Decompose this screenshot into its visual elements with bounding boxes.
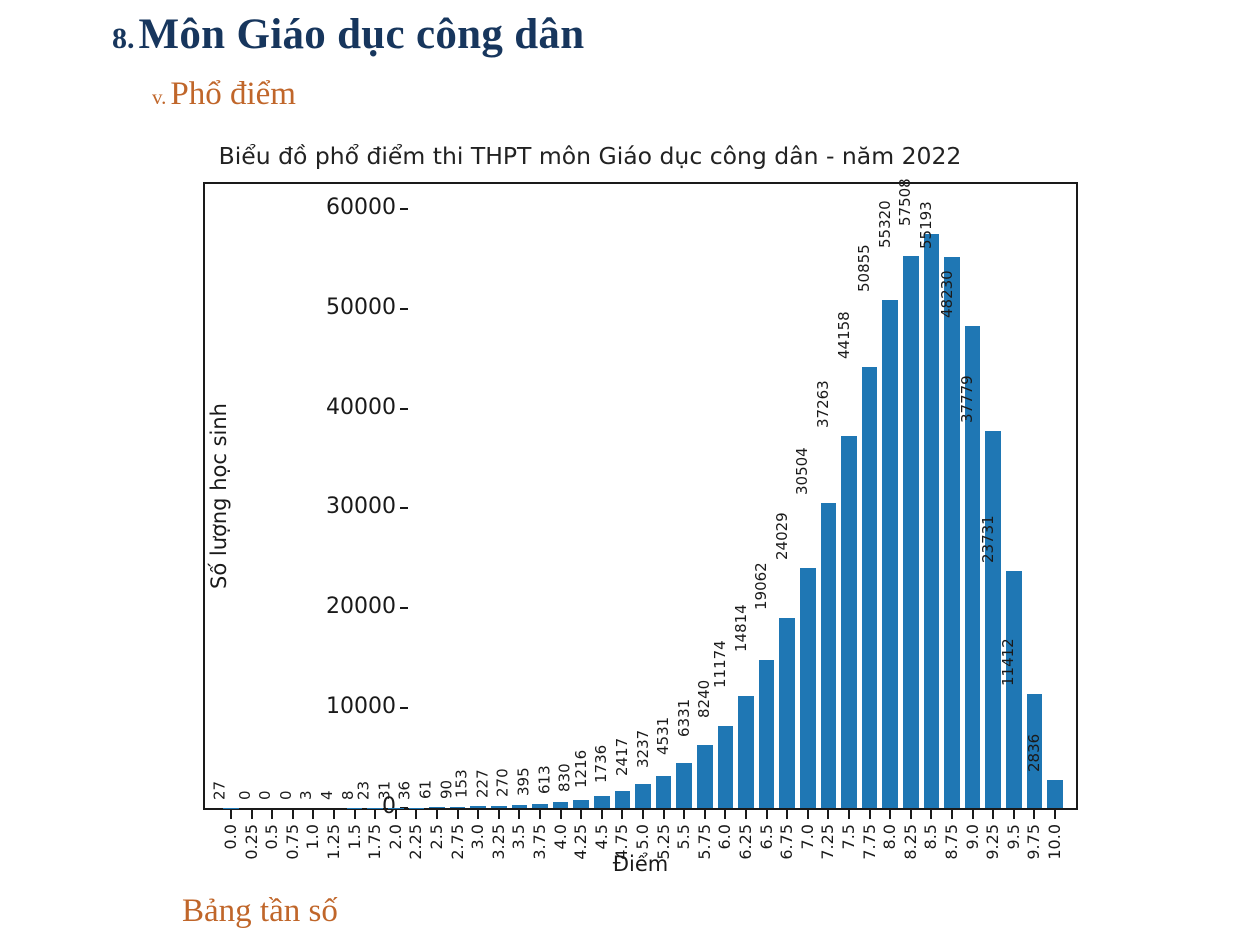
bar-rect: [656, 776, 672, 808]
bar-value-label: 27: [212, 781, 227, 800]
x-tick-label: 5.0: [635, 824, 651, 849]
page-subtitle-number: v.: [152, 85, 166, 109]
bar: 31: [388, 184, 404, 808]
x-tick-mark: [230, 810, 232, 819]
x-tick-mark: [436, 810, 438, 819]
bar-value-label: 30504: [796, 448, 811, 496]
x-tick-mark: [251, 810, 253, 819]
bar-value-label: 830: [558, 763, 573, 792]
bar-rect: [985, 431, 1001, 808]
bar-value-label: 11174: [713, 641, 728, 689]
bar-value-label: 270: [496, 769, 511, 798]
bar: 48230: [965, 184, 981, 808]
bar-value-label: 0: [258, 790, 273, 800]
bar-value-label: 1216: [574, 750, 589, 788]
bar-value-label: 37263: [816, 380, 831, 428]
x-tick-mark: [395, 810, 397, 819]
x-tick-label: 2.5: [429, 824, 445, 849]
x-tick-mark: [518, 810, 520, 819]
x-tick-label: 7.0: [800, 824, 816, 849]
bar-value-label: 14814: [734, 604, 749, 652]
x-tick-mark: [477, 810, 479, 819]
bar: 830: [573, 184, 589, 808]
bar: 0: [264, 184, 280, 808]
bar-value-label: 613: [537, 765, 552, 794]
bar: 3: [306, 184, 322, 808]
bar-rect: [697, 745, 713, 808]
bar-rect: [573, 800, 589, 808]
bar: 57508: [924, 184, 940, 808]
x-tick-label: 5.5: [676, 824, 692, 849]
bar-series: 2700034823313661901532272703956138301216…: [205, 184, 1076, 808]
bar: 14814: [759, 184, 775, 808]
x-tick-label: 0.5: [264, 824, 280, 849]
bar-rect: [532, 804, 548, 808]
page-title-text: Môn Giáo dục công dân: [139, 11, 585, 58]
bar-rect: [470, 806, 486, 808]
bar: 19062: [779, 184, 795, 808]
bar-rect: [491, 806, 507, 808]
bar-value-label: 61: [418, 780, 433, 799]
bar: 8240: [718, 184, 734, 808]
bar-value-label: 57508: [899, 178, 914, 226]
bar: 0: [285, 184, 301, 808]
bar-rect: [450, 807, 466, 808]
x-tick-mark: [292, 810, 294, 819]
bar: 61: [429, 184, 445, 808]
bar-value-label: 50855: [857, 245, 872, 293]
bar: 24029: [800, 184, 816, 808]
x-axis-label: Điểm: [203, 852, 1078, 876]
bar-value-label: 44158: [837, 311, 852, 359]
bar-rect: [738, 696, 754, 808]
x-tick-mark: [333, 810, 335, 819]
x-tick-label: 6.0: [717, 824, 733, 849]
bar-value-label: 4531: [656, 717, 671, 755]
bar-value-label: 1736: [594, 744, 609, 782]
bar: 2417: [635, 184, 651, 808]
bar-value-label: 55193: [919, 201, 934, 249]
bar-rect: [800, 568, 816, 808]
bar-value-label: 227: [475, 769, 490, 798]
x-tick-mark: [663, 810, 665, 819]
page-subtitle: v. Phổ điểm: [152, 76, 296, 113]
bar: 395: [532, 184, 548, 808]
bar-rect: [1047, 780, 1063, 808]
x-tick-label: 7.5: [841, 824, 857, 849]
x-tick-mark: [539, 810, 541, 819]
x-tick-mark: [807, 810, 809, 819]
bar-rect: [1006, 571, 1022, 808]
bar-value-label: 6331: [677, 699, 692, 737]
x-tick-mark: [457, 810, 459, 819]
page-title: 8. Môn Giáo dục công dân: [112, 10, 584, 59]
x-tick-label: 8.0: [882, 824, 898, 849]
bar: 613: [553, 184, 569, 808]
x-tick-label: 3.5: [511, 824, 527, 849]
bar: 8: [347, 184, 363, 808]
histogram-figure: Biểu đồ phổ điểm thi THPT môn Giáo dục c…: [0, 130, 1242, 890]
x-tick-label: 2.0: [388, 824, 404, 849]
bar-rect: [676, 763, 692, 808]
x-tick-mark: [786, 810, 788, 819]
page-title-number: 8.: [112, 22, 135, 55]
bar: 23: [367, 184, 383, 808]
bar: 1736: [615, 184, 631, 808]
x-tick-mark: [724, 810, 726, 819]
bar: 50855: [882, 184, 898, 808]
bar-rect: [429, 807, 445, 808]
bar: 23731: [1006, 184, 1022, 808]
plot-area: Số lượng học sinh 0100002000030000400005…: [203, 182, 1078, 810]
bar-value-label: 0: [279, 790, 294, 800]
bar-rect: [862, 367, 878, 808]
x-tick-label: 9.0: [965, 824, 981, 849]
x-tick-mark: [580, 810, 582, 819]
bar: 270: [512, 184, 528, 808]
x-tick-mark: [271, 810, 273, 819]
bar-rect: [553, 802, 569, 808]
bar-rect: [779, 618, 795, 808]
x-tick-mark: [992, 810, 994, 819]
bar-rect: [944, 257, 960, 808]
bar-rect: [615, 791, 631, 808]
x-tick-label: 3.0: [470, 824, 486, 849]
bar: 90: [450, 184, 466, 808]
bar-value-label: 19062: [754, 562, 769, 610]
x-tick-mark: [312, 810, 314, 819]
bar: 55320: [903, 184, 919, 808]
bar-value-label: 3: [300, 790, 315, 800]
x-tick-mark: [642, 810, 644, 819]
x-tick-label: 4.0: [553, 824, 569, 849]
bar: 153: [470, 184, 486, 808]
x-tick-mark: [1013, 810, 1015, 819]
bar-rect: [882, 300, 898, 808]
x-tick-label: 0.0: [223, 824, 239, 849]
bar-rect: [924, 234, 940, 808]
bar-rect: [635, 784, 651, 808]
bar-value-label: 24029: [775, 512, 790, 560]
bar-value-label: 2417: [615, 738, 630, 776]
chart-title: Biểu đồ phổ điểm thi THPT môn Giáo dục c…: [0, 142, 1180, 170]
x-tick-mark: [910, 810, 912, 819]
x-tick-mark: [745, 810, 747, 819]
bar-value-label: 37779: [960, 375, 975, 423]
bar: 36: [409, 184, 425, 808]
bar-value-label: 8240: [697, 680, 712, 718]
x-tick-label: 1.0: [305, 824, 321, 849]
bar: 1216: [594, 184, 610, 808]
x-tick-mark: [951, 810, 953, 819]
bar-value-label: 11412: [1002, 638, 1017, 686]
x-tick-mark: [1033, 810, 1035, 819]
bar-value-label: 0: [238, 790, 253, 800]
x-tick-mark: [354, 810, 356, 819]
bar-rect: [821, 503, 837, 808]
bar: 0: [244, 184, 260, 808]
bar-rect: [594, 796, 610, 808]
x-tick-mark: [766, 810, 768, 819]
bar: 2836: [1047, 184, 1063, 808]
x-tick-mark: [683, 810, 685, 819]
bar-rect: [512, 805, 528, 808]
bar-value-label: 4: [320, 790, 335, 800]
bar: 11174: [738, 184, 754, 808]
x-tick-label: 9.5: [1006, 824, 1022, 849]
x-tick-label: 1.5: [347, 824, 363, 849]
bar-value-label: 23: [357, 781, 372, 800]
x-tick-mark: [869, 810, 871, 819]
bar-value-label: 153: [455, 770, 470, 799]
bar: 30504: [821, 184, 837, 808]
x-tick-mark: [415, 810, 417, 819]
bar-rect: [759, 660, 775, 808]
bar-value-label: 48230: [940, 271, 955, 319]
bar-value-label: 31: [377, 781, 392, 800]
x-tick-label: 6.5: [759, 824, 775, 849]
bar-value-label: 2836: [1027, 734, 1042, 772]
bar-rect: [841, 436, 857, 808]
x-tick-mark: [930, 810, 932, 819]
x-tick-mark: [498, 810, 500, 819]
bar-value-label: 55320: [878, 200, 893, 248]
bar-rect: [903, 256, 919, 808]
bar-value-label: 23731: [981, 515, 996, 563]
bar-value-label: 36: [398, 781, 413, 800]
bar: 27: [223, 184, 239, 808]
bar: 3237: [656, 184, 672, 808]
bar: 11412: [1027, 184, 1043, 808]
x-tick-mark: [1054, 810, 1056, 819]
x-tick-label: 4.5: [594, 824, 610, 849]
bar-rect: [718, 726, 734, 808]
x-tick-mark: [827, 810, 829, 819]
bar-value-label: 3237: [636, 730, 651, 768]
x-tick-mark: [889, 810, 891, 819]
x-tick-mark: [374, 810, 376, 819]
x-tick-mark: [560, 810, 562, 819]
x-tick-mark: [704, 810, 706, 819]
x-tick-label: 8.5: [923, 824, 939, 849]
x-tick-mark: [601, 810, 603, 819]
bar: 37779: [985, 184, 1001, 808]
bar: 227: [491, 184, 507, 808]
page-subtitle-text: Phổ điểm: [170, 76, 296, 112]
x-tick-mark: [972, 810, 974, 819]
bar: 4: [326, 184, 342, 808]
x-tick-mark: [848, 810, 850, 819]
bar-value-label: 395: [517, 767, 532, 796]
x-tick-mark: [621, 810, 623, 819]
